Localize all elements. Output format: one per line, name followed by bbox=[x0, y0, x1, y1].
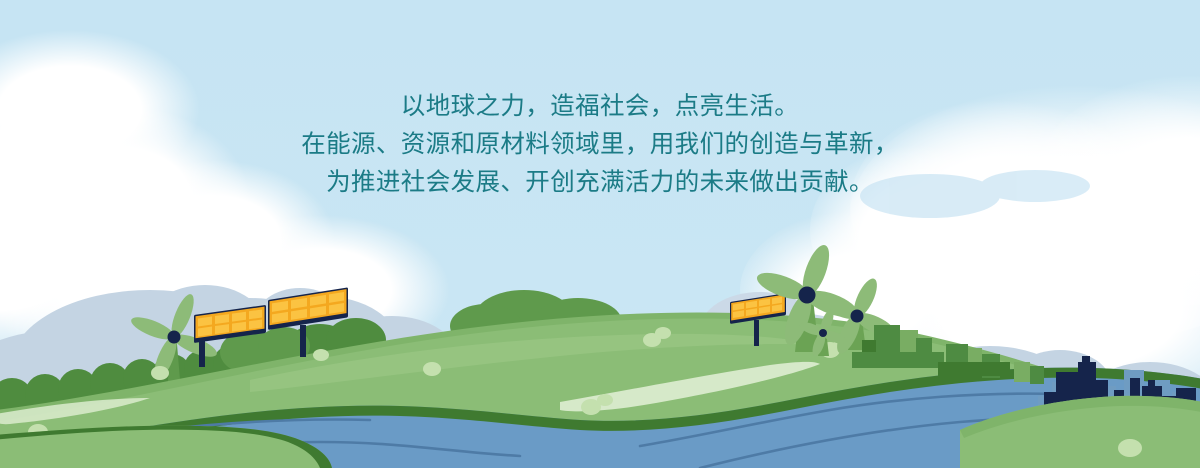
solar-panel-pole bbox=[300, 325, 306, 357]
windmill-hub bbox=[799, 287, 816, 304]
windmill-hub bbox=[851, 310, 864, 323]
grass-blob-right bbox=[1118, 439, 1142, 457]
landscape-illustration bbox=[0, 0, 1200, 468]
windmill-hub bbox=[819, 329, 827, 337]
solar-panel-pole bbox=[754, 320, 759, 346]
windmill-hub bbox=[168, 331, 181, 344]
eco-banner: 以地球之力，造福社会，点亮生活。 在能源、资源和原材料领域里，用我们的创造与革新… bbox=[0, 0, 1200, 468]
